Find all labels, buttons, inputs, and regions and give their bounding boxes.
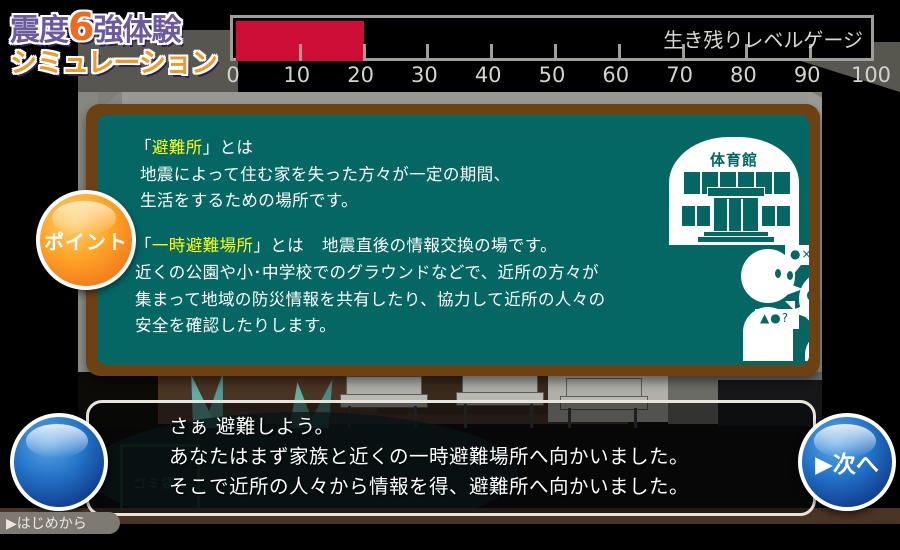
board-text-content: 「避難所」とは 地震によって住む家を失った方々が一定の期間、 生活をするための場…	[135, 135, 680, 340]
paragraph2-line1: 近くの公園や小･中学校でのグラウンドなどで、近所の方々が	[135, 260, 680, 287]
dialogue-line-3: そこで近所の人々から情報を得、避難所へ向かいました。	[169, 472, 809, 502]
title-part-a: 震度	[10, 13, 68, 48]
gauge-tick-label: 60	[602, 63, 629, 87]
gauge-tick-label: 10	[283, 63, 310, 87]
speech-bubble-1-text: ●×■	[790, 247, 809, 261]
title-intensity-number: 6	[68, 5, 93, 49]
paragraph2-heading-tail: 地震直後の情報交換の場です。	[304, 236, 557, 255]
game-title-line2: シミュレーション	[10, 48, 235, 79]
gauge-tick-label: 20	[347, 63, 374, 87]
title-part-b: 強体験	[93, 13, 180, 48]
gauge-track: 生き残りレベルゲージ	[230, 15, 874, 61]
quote-open: 「	[135, 236, 152, 255]
gauge-tick-label: 0	[226, 63, 239, 87]
gauge-tick	[554, 44, 557, 61]
quote-open: 「	[135, 138, 152, 157]
game-title-line1: 震度6強体験	[10, 8, 235, 46]
point-badge-label: ポイント	[40, 226, 132, 255]
gauge-tick	[426, 44, 429, 61]
quote-close: 」とは	[253, 236, 304, 255]
dialogue-line-2: あなたはまず家族と近くの一時避難場所へ向かいました。	[169, 442, 809, 472]
gauge-tick-label: 40	[475, 63, 502, 87]
gauge-tick-label: 50	[539, 63, 566, 87]
gauge-label: 生き残りレベルゲージ	[663, 24, 863, 53]
gauge-tick-label: 30	[411, 63, 438, 87]
simulation-screen: ゴミ袋 震度6強体験 シミュレーション 生き残りレベルゲージ 010203040…	[0, 0, 900, 550]
paragraph1-heading: 「避難所」とは	[135, 135, 680, 162]
gauge-tick	[490, 44, 493, 61]
quote-close: 」とは	[203, 138, 254, 157]
survival-gauge: 生き残りレベルゲージ 0102030405060708090100	[230, 15, 882, 90]
gymnasium-label: 体育館	[669, 149, 799, 170]
gymnasium-icon: 体育館	[669, 127, 799, 245]
next-button[interactable]: ▶次へ	[798, 413, 896, 511]
person-right-body	[805, 331, 809, 361]
information-board: 「避難所」とは 地震によって住む家を失った方々が一定の期間、 生活をするための場…	[86, 104, 820, 376]
gauge-tick-label: 80	[730, 63, 757, 87]
speech-bubble-icon: ▲●?	[755, 309, 799, 329]
gauge-scale-numbers: 0102030405060708090100	[230, 63, 882, 89]
dialogue-line-1: さぁ 避難しよう。	[169, 412, 809, 442]
game-title-logo: 震度6強体験 シミュレーション	[10, 8, 235, 79]
gauge-tick	[299, 44, 302, 61]
restart-button-label: ▶はじめから	[0, 513, 87, 533]
point-badge: ポイント	[36, 190, 136, 290]
people-talking-icon: ●×■ ▲●?	[737, 245, 809, 361]
speech-bubble-icon: ●×■	[785, 245, 809, 265]
paragraph1-line1: 地震によって住む家を失った方々が一定の期間、	[135, 162, 680, 189]
speaker-orb[interactable]	[10, 413, 108, 511]
gauge-tick-label: 100	[851, 63, 891, 87]
paragraph1-line2: 生活をするための場所です。	[135, 188, 680, 215]
gauge-tick	[363, 44, 366, 61]
board-surface: 「避難所」とは 地震によって住む家を失った方々が一定の期間、 生活をするための場…	[97, 115, 809, 365]
paragraph2-line3: 安全を確認したりします。	[135, 313, 680, 340]
gauge-tick-label: 70	[666, 63, 693, 87]
gauge-tick	[618, 44, 621, 61]
dialogue-box[interactable]: さぁ 避難しよう。 あなたはまず家族と近くの一時避難場所へ向かいました。 そこで…	[86, 400, 816, 516]
dialogue-text: さぁ 避難しよう。 あなたはまず家族と近くの一時避難場所へ向かいました。 そこで…	[169, 412, 809, 503]
next-button-label: ▶次へ	[802, 445, 892, 479]
restart-button[interactable]: ▶はじめから	[0, 512, 120, 534]
paragraph2-line2: 集まって地域の防災情報を共有したり、協力して近所の人々の	[135, 287, 680, 314]
letterbox-bottom	[0, 524, 900, 550]
term-temp-evacuation: 一時避難場所	[152, 236, 253, 255]
orb-gloss	[26, 424, 88, 458]
term-shelter: 避難所	[152, 138, 203, 157]
paragraph2-heading: 「一時避難場所」とは地震直後の情報交換の場です。	[135, 233, 680, 260]
speech-bubble-2-text: ▲●?	[760, 311, 789, 325]
gauge-tick-label: 90	[794, 63, 821, 87]
